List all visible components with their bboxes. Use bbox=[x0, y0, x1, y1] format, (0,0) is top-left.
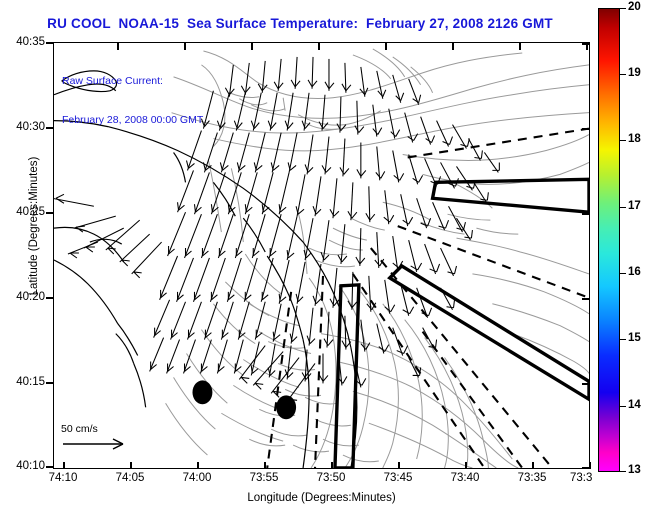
vector-arrow bbox=[268, 344, 275, 378]
vector-arrow bbox=[241, 63, 250, 95]
vector-arrow bbox=[302, 350, 311, 382]
vector-arrow bbox=[74, 216, 116, 232]
annotation-line-2: February 28, 2008 00:00 GMT bbox=[62, 114, 203, 127]
vector-arrow bbox=[54, 194, 94, 206]
y-tick-right bbox=[582, 298, 589, 300]
colorbar-tick bbox=[620, 74, 626, 75]
vector-arrow bbox=[188, 302, 202, 340]
x-tick-label: 73:40 bbox=[442, 472, 488, 484]
y-tick-right bbox=[582, 467, 589, 469]
vector-arrow bbox=[361, 320, 370, 352]
x-tick bbox=[532, 462, 534, 469]
vector-arrow bbox=[234, 340, 243, 374]
vector-arrow bbox=[238, 302, 249, 340]
vector-arrow bbox=[254, 133, 265, 173]
y-tick-label: 40:15 bbox=[1, 376, 45, 388]
vector-arrow bbox=[244, 258, 257, 302]
vector-arrow bbox=[325, 59, 334, 91]
y-tick bbox=[46, 466, 53, 468]
colorbar-label: 19 bbox=[628, 67, 641, 79]
vector-arrow bbox=[221, 302, 233, 340]
scale-legend: 50 cm/s bbox=[61, 423, 156, 451]
y-tick-right bbox=[582, 383, 589, 385]
x-axis-title: Longitude (Degrees:Minutes) bbox=[53, 492, 590, 504]
vector-arrow bbox=[273, 304, 281, 342]
vector-arrow bbox=[321, 220, 329, 262]
vector-arrow bbox=[366, 186, 375, 222]
colorbar-label: 13 bbox=[628, 464, 641, 476]
vector-arrow bbox=[385, 280, 395, 314]
x-tick bbox=[589, 462, 591, 469]
vector-arrow bbox=[393, 150, 404, 182]
y-tick-label: 40:10 bbox=[1, 460, 45, 472]
y-tick-right bbox=[582, 213, 589, 215]
vector-arrow bbox=[261, 258, 273, 302]
vector-arrow bbox=[217, 340, 227, 374]
x-tick bbox=[398, 462, 400, 469]
vector-arrow bbox=[401, 194, 413, 226]
colorbar-label: 14 bbox=[628, 399, 641, 411]
vector-arrow bbox=[218, 214, 233, 258]
vector-arrow bbox=[239, 346, 265, 384]
colorbar-tick bbox=[620, 273, 626, 274]
vector-arrow bbox=[106, 220, 140, 254]
colorbar-label: 20 bbox=[628, 1, 641, 13]
vector-arrow bbox=[337, 97, 346, 133]
vector-arrow bbox=[288, 133, 297, 173]
vector-arrow bbox=[225, 65, 234, 97]
vector-arrow bbox=[220, 133, 233, 173]
x-tick-label: 73:50 bbox=[308, 472, 354, 484]
colorbar-tick bbox=[620, 471, 626, 472]
station-marker bbox=[276, 395, 296, 419]
x-tick-top bbox=[117, 43, 119, 50]
vector-arrow bbox=[308, 57, 317, 89]
colorbar-tick bbox=[620, 8, 626, 9]
vector-arrow bbox=[193, 258, 209, 302]
y-tick-label: 40:35 bbox=[1, 36, 45, 48]
vector-arrow bbox=[258, 61, 267, 93]
vector-arrow bbox=[184, 340, 196, 374]
vector-arrow bbox=[340, 139, 349, 177]
vector-arrow bbox=[211, 172, 225, 214]
vector-arrow bbox=[437, 121, 453, 147]
vector-arrow bbox=[313, 176, 321, 216]
colorbar-tick bbox=[620, 207, 626, 208]
vector-arrow bbox=[132, 242, 162, 278]
vector-arrow bbox=[167, 340, 180, 374]
vector-arrow bbox=[342, 63, 351, 93]
vector-arrow bbox=[160, 256, 178, 300]
x-tick-top bbox=[184, 43, 186, 50]
x-tick bbox=[465, 462, 467, 469]
vector-arrow bbox=[279, 260, 289, 304]
vector-arrow bbox=[235, 214, 249, 258]
vector-arrow bbox=[296, 174, 305, 216]
vector-arrow bbox=[319, 95, 328, 131]
scale-legend-label: 50 cm/s bbox=[61, 423, 156, 435]
y-tick bbox=[46, 382, 53, 384]
x-tick-label: 74:05 bbox=[107, 472, 153, 484]
vector-arrow bbox=[271, 133, 281, 173]
vector-arrow bbox=[425, 244, 440, 274]
vector-arrow bbox=[268, 93, 277, 131]
vector-arrow bbox=[251, 93, 261, 131]
vector-arrow bbox=[305, 135, 313, 175]
station-marker bbox=[192, 380, 212, 404]
colorbar-label: 18 bbox=[628, 133, 641, 145]
vector-arrow bbox=[433, 202, 449, 230]
bathymetry-contours bbox=[166, 49, 589, 468]
vector-arrow bbox=[357, 143, 366, 179]
x-tick-top bbox=[385, 43, 387, 50]
vector-arrow bbox=[348, 182, 357, 220]
x-tick-label: 73:45 bbox=[375, 472, 421, 484]
vector-arrow bbox=[355, 101, 364, 135]
vector-arrow bbox=[456, 166, 475, 190]
vector-arrow bbox=[376, 147, 385, 181]
vector-arrow bbox=[330, 178, 339, 218]
x-tick bbox=[63, 462, 65, 469]
vector-arrow bbox=[178, 170, 194, 212]
figure-title: RU COOL NOAA-15 Sea Surface Temperature:… bbox=[0, 16, 600, 31]
vector-arrow bbox=[342, 316, 351, 350]
vector-arrow bbox=[251, 342, 259, 376]
vector-arrow bbox=[203, 133, 217, 173]
vector-arrow bbox=[237, 133, 249, 173]
vector-arrow bbox=[285, 93, 293, 131]
colorbar-tick bbox=[620, 339, 626, 340]
map-plot-area[interactable]: Raw Surface Current: February 28, 2008 0… bbox=[53, 42, 590, 469]
x-tick-label: 73:35 bbox=[509, 472, 555, 484]
x-tick-top bbox=[519, 43, 521, 50]
colorbar-tick bbox=[620, 406, 626, 407]
vector-arrow bbox=[150, 338, 164, 372]
x-tick-label: 74:00 bbox=[174, 472, 220, 484]
x-tick-label: 73:55 bbox=[241, 472, 287, 484]
x-tick bbox=[130, 462, 132, 469]
vector-arrow bbox=[291, 57, 300, 89]
y-tick-right bbox=[582, 128, 589, 130]
y-tick bbox=[46, 127, 53, 129]
y-tick bbox=[46, 42, 53, 44]
vector-arrow bbox=[453, 125, 470, 149]
colorbar-tick bbox=[620, 140, 626, 141]
vector-arrow bbox=[274, 59, 283, 91]
right-arrow-icon bbox=[61, 437, 139, 451]
y-tick bbox=[46, 212, 53, 214]
vector-arrow bbox=[441, 162, 459, 188]
vector-arrow bbox=[377, 71, 386, 99]
vector-arrow bbox=[468, 139, 482, 161]
x-tick-top bbox=[452, 43, 454, 50]
vector-arrow bbox=[405, 113, 418, 143]
vector-arrow bbox=[201, 214, 217, 258]
x-tick-top bbox=[318, 43, 320, 50]
annotation-line-1: Raw Surface Current: bbox=[62, 75, 203, 88]
vector-arrow bbox=[234, 93, 245, 131]
vector-arrow bbox=[373, 105, 382, 137]
colorbar-label: 15 bbox=[628, 332, 641, 344]
vector-arrow bbox=[356, 228, 365, 266]
vector-arrow bbox=[322, 137, 331, 175]
vector-arrow bbox=[338, 224, 347, 264]
vector-arrow bbox=[168, 212, 186, 256]
vector-arrow bbox=[154, 300, 170, 338]
vector-arrow bbox=[200, 340, 211, 374]
x-tick bbox=[331, 462, 333, 469]
y-axis-title: Latitude (Degrees:Minutes) bbox=[28, 96, 40, 356]
vector-arrow bbox=[171, 302, 186, 340]
vector-arrow bbox=[252, 214, 265, 258]
vector-arrow bbox=[279, 172, 289, 214]
vector-arrow bbox=[384, 190, 394, 224]
vector-arrow bbox=[217, 93, 229, 131]
vector-arrow bbox=[204, 302, 217, 340]
vector-arrow bbox=[287, 216, 297, 260]
figure-canvas: RU COOL NOAA-15 Sea Surface Temperature:… bbox=[0, 0, 651, 518]
vector-arrow bbox=[245, 172, 257, 214]
y-tick bbox=[46, 297, 53, 299]
vector-arrow bbox=[210, 258, 225, 302]
vector-arrow bbox=[185, 214, 202, 258]
colorbar-gradient bbox=[598, 8, 620, 472]
vector-arrow bbox=[269, 214, 281, 258]
station-markers bbox=[192, 380, 296, 419]
vector-arrow bbox=[389, 109, 400, 139]
vector-arrow bbox=[393, 75, 404, 103]
vector-arrow bbox=[68, 242, 98, 258]
vector-arrow bbox=[307, 308, 315, 346]
x-tick-label: 74:10 bbox=[40, 472, 86, 484]
vector-arrow bbox=[421, 117, 435, 145]
scale-arrow-wrap bbox=[61, 437, 156, 451]
x-tick-label: 73:3 bbox=[570, 472, 604, 484]
vector-arrow bbox=[194, 172, 209, 214]
vector-arrow bbox=[441, 248, 457, 276]
y-tick-right bbox=[582, 43, 589, 45]
vector-arrow bbox=[120, 234, 150, 266]
x-tick bbox=[197, 462, 199, 469]
vector-arrow bbox=[177, 258, 194, 302]
vector-arrow bbox=[409, 154, 423, 184]
colorbar-label: 16 bbox=[628, 266, 641, 278]
vector-arrow bbox=[296, 262, 305, 304]
vector-arrow bbox=[409, 240, 422, 272]
vector-arrow bbox=[262, 172, 273, 214]
annotation-block: Raw Surface Current: February 28, 2008 0… bbox=[62, 49, 203, 153]
x-tick bbox=[264, 462, 266, 469]
x-tick-top bbox=[251, 43, 253, 50]
colorbar-label: 17 bbox=[628, 200, 641, 212]
vector-arrow bbox=[425, 158, 441, 186]
vector-arrow bbox=[484, 152, 499, 172]
